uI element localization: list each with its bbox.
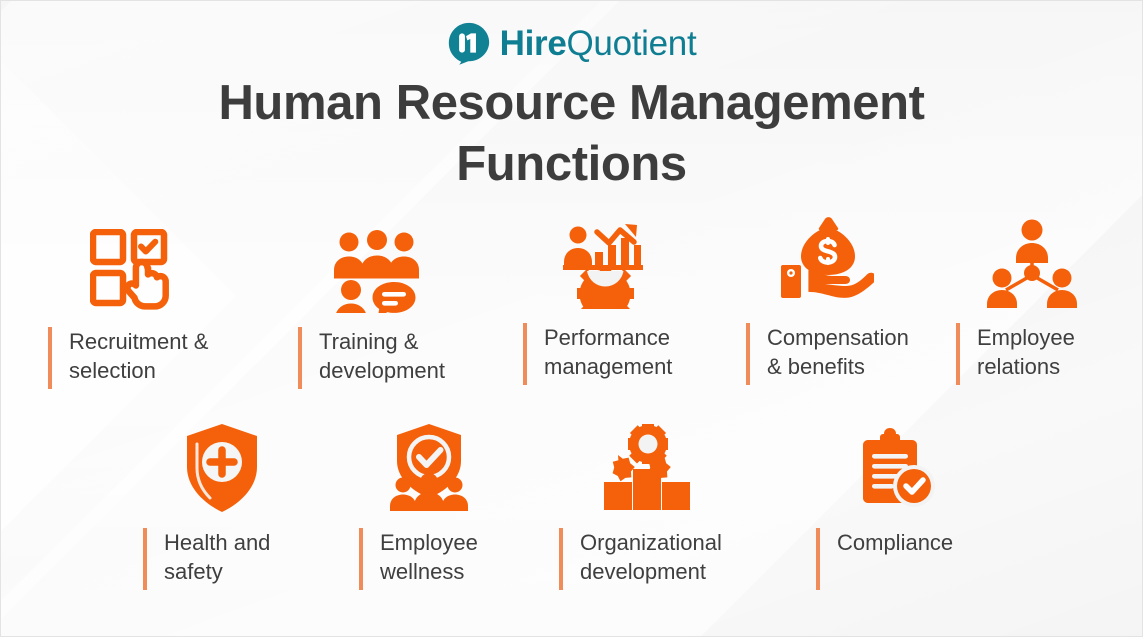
function-label: Compliance: [820, 528, 953, 590]
brand-logo: HireQuotient: [1, 21, 1142, 65]
brand-wordmark: HireQuotient: [500, 26, 697, 61]
function-item-compensation-benefits: Compensation & benefits: [746, 213, 951, 385]
podium-gear-icon: [559, 419, 789, 514]
hirequotient-logo-mark: [447, 21, 491, 65]
function-item-employee-wellness: Employee wellness: [359, 419, 559, 590]
function-label: Organizational development: [563, 528, 722, 590]
brand-word-hire: Hire: [500, 24, 567, 63]
function-item-organizational-development: Organizational development: [559, 419, 789, 590]
shield-check-people-icon: [359, 419, 559, 514]
function-label: Performance management: [527, 323, 672, 385]
clipboard-check-icon: [816, 419, 1016, 514]
bar-chart-gear-icon: [523, 219, 741, 309]
function-label: Recruitment & selection: [52, 327, 208, 389]
function-label: Health and safety: [147, 528, 270, 590]
function-item-employee-relations: Employee relations: [956, 213, 1136, 385]
people-speech-bubble-icon: [298, 223, 513, 313]
function-label: Compensation & benefits: [750, 323, 909, 385]
hand-money-bag-icon: [746, 213, 951, 309]
function-item-health-safety: Health and safety: [143, 419, 358, 590]
function-item-training-development: Training & development: [298, 223, 513, 389]
function-label: Employee wellness: [363, 528, 478, 590]
infographic-poster: HireQuotient Human Resource Management F…: [0, 0, 1143, 637]
function-label: Employee relations: [960, 323, 1075, 385]
function-item-compliance: Compliance: [816, 419, 1016, 590]
function-label: Training & development: [302, 327, 445, 389]
function-item-recruitment-selection: Recruitment & selection: [48, 223, 278, 389]
page-title: Human Resource Management Functions: [111, 73, 1032, 196]
brand-word-quotient: Quotient: [566, 24, 696, 63]
function-item-performance-management: Performance management: [523, 219, 741, 385]
shield-medical-cross-icon: [143, 419, 358, 514]
people-network-icon: [956, 213, 1136, 309]
checklist-grid-hand-icon: [48, 223, 278, 313]
